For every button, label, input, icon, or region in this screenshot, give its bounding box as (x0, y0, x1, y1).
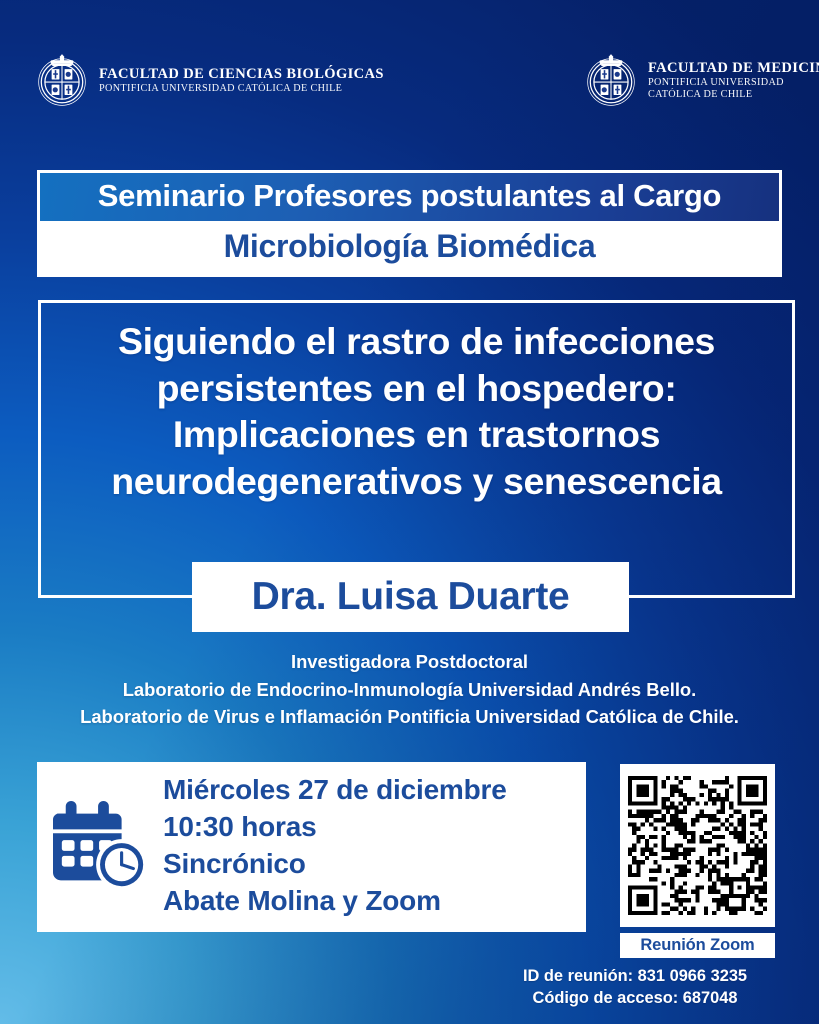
speaker-name: Dra. Luisa Duarte (252, 575, 570, 619)
uc-crest-icon (585, 52, 637, 109)
seminar-header-box: Seminario Profesores postulantes al Carg… (37, 170, 782, 277)
uc-crest-icon (36, 52, 88, 109)
logo-row: FACULTAD DE CIENCIAS BIOLÓGICAS PONTIFIC… (0, 0, 819, 150)
logo-ciencias-biologicas: FACULTAD DE CIENCIAS BIOLÓGICAS PONTIFIC… (36, 52, 384, 109)
logo-medicina: FACULTAD DE MEDICINA PONTIFICIA UNIVERSI… (585, 52, 819, 109)
logo-text-block: FACULTAD DE MEDICINA PONTIFICIA UNIVERSI… (648, 60, 819, 101)
event-detail-lines: Miércoles 27 de diciembre 10:30 horas Si… (163, 772, 507, 922)
speaker-affiliation: Investigadora Postdoctoral Laboratorio d… (0, 648, 819, 731)
qr-code-icon[interactable] (628, 776, 767, 915)
zoom-meeting-id: ID de reunión: 831 0966 3235 (470, 966, 800, 988)
event-date: Miércoles 27 de diciembre (163, 772, 507, 809)
talk-title-line: persistentes en el hospedero: (38, 365, 795, 412)
affiliation-line: Laboratorio de Virus e Inflamación Ponti… (0, 703, 819, 731)
zoom-meeting-info: ID de reunión: 831 0966 3235 Código de a… (470, 966, 800, 1009)
affiliation-line: Investigadora Postdoctoral (0, 648, 819, 676)
zoom-meeting-label-box: Reunión Zoom (620, 933, 775, 958)
zoom-meeting-label: Reunión Zoom (640, 936, 754, 955)
event-time: 10:30 horas (163, 809, 507, 846)
calendar-clock-icon (53, 798, 151, 896)
event-location: Abate Molina y Zoom (163, 883, 507, 920)
zoom-passcode: Código de acceso: 687048 (470, 988, 800, 1010)
faculty-name: FACULTAD DE MEDICINA (648, 60, 819, 77)
seminar-subtitle: Seminario Profesores postulantes al Carg… (40, 173, 779, 221)
university-name-line1: PONTIFICIA UNIVERSIDAD (648, 77, 819, 89)
seminar-area: Microbiología Biomédica (40, 221, 779, 274)
logo-text-block: FACULTAD DE CIENCIAS BIOLÓGICAS PONTIFIC… (99, 66, 384, 95)
affiliation-line: Laboratorio de Endocrino-Inmunología Uni… (0, 676, 819, 704)
talk-title: Siguiendo el rastro de infecciones persi… (38, 318, 795, 504)
faculty-name: FACULTAD DE CIENCIAS BIOLÓGICAS (99, 66, 384, 83)
talk-title-line: neurodegenerativos y senescencia (38, 458, 795, 505)
event-mode: Sincrónico (163, 846, 507, 883)
speaker-name-plate: Dra. Luisa Duarte (192, 562, 629, 632)
university-name: PONTIFICIA UNIVERSIDAD CATÓLICA DE CHILE (99, 83, 384, 95)
talk-title-line: Implicaciones en trastornos (38, 411, 795, 458)
event-details-card: Miércoles 27 de diciembre 10:30 horas Si… (37, 762, 586, 932)
poster-canvas: FACULTAD DE CIENCIAS BIOLÓGICAS PONTIFIC… (0, 0, 819, 1024)
qr-code-card[interactable] (620, 764, 775, 927)
university-name-line2: CATÓLICA DE CHILE (648, 89, 819, 101)
talk-title-line: Siguiendo el rastro de infecciones (38, 318, 795, 365)
